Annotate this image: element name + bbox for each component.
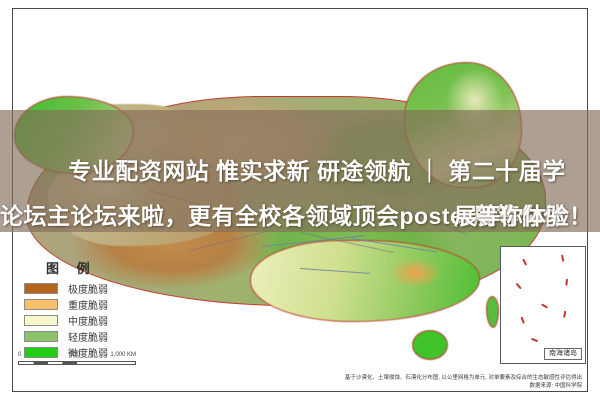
inset-label: 南海诸岛 xyxy=(544,348,582,360)
south-china-region-patch xyxy=(250,240,480,322)
legend-label-severe: 重度脆弱 xyxy=(68,297,108,312)
dashed-boundary-mark xyxy=(520,316,525,323)
dashed-boundary-mark xyxy=(561,255,565,262)
scalebar-label-start: 0 xyxy=(18,352,21,358)
dashed-boundary-mark xyxy=(515,283,521,290)
dashed-boundary-mark xyxy=(531,338,538,343)
legend-item-extreme: 极度脆弱 xyxy=(24,281,174,295)
scalebar-bar xyxy=(18,361,136,365)
legend-title: 图 例 xyxy=(46,258,174,277)
promo-headline-line-2-tail: 展等你体验！ xyxy=(410,197,600,231)
scalebar-tick-labels: 0 500 1,000 KM xyxy=(18,352,136,361)
attribution-line-method: 基于沙漠化、土壤侵蚀、石漠化分布图, 以公里网格为单元, 对单要素及综合的生态敏… xyxy=(345,374,582,382)
legend-item-moderate: 中度脆弱 xyxy=(24,313,174,327)
map-scalebar: 0 500 1,000 KM xyxy=(18,352,136,365)
dashed-boundary-mark xyxy=(563,311,567,318)
taiwan-island-shape xyxy=(486,296,499,328)
scalebar-label-end: 1,000 KM xyxy=(110,352,136,358)
legend-swatch-moderate xyxy=(24,315,58,326)
legend-item-severe: 重度脆弱 xyxy=(24,297,174,311)
legend-swatch-extreme xyxy=(24,283,58,294)
promo-headline-line-1: 专业配资网站 惟实求新 研途领航 ｜ 第二十届学 xyxy=(0,152,600,186)
map-attribution: 基于沙漠化、土壤侵蚀、石漠化分布图, 以公里网格为单元, 对单要素及综合的生态敏… xyxy=(345,374,582,391)
legend-item-mild: 轻度脆弱 xyxy=(24,329,174,343)
legend-label-extreme: 极度脆弱 xyxy=(68,281,108,296)
dashed-boundary-mark xyxy=(541,303,548,309)
south-china-sea-inset: 南海诸岛 xyxy=(500,246,586,364)
dashed-boundary-mark xyxy=(522,259,527,266)
legend-swatch-severe xyxy=(24,299,58,310)
legend-label-moderate: 中度脆弱 xyxy=(68,313,108,328)
legend-swatch-mild xyxy=(24,331,58,342)
map-legend: 图 例 极度脆弱 重度脆弱 中度脆弱 轻度脆弱 微度脆弱 xyxy=(24,258,174,361)
legend-label-mild: 轻度脆弱 xyxy=(68,329,108,344)
attribution-line-source: 数据来源: 中国科学院 xyxy=(345,382,582,390)
dashed-boundary-mark xyxy=(565,279,568,286)
scalebar-label-middle: 500 xyxy=(70,352,80,358)
screenshot-root: 南海诸岛 图 例 极度脆弱 重度脆弱 中度脆弱 轻度脆弱 xyxy=(0,0,600,400)
hainan-island-shape xyxy=(412,330,448,360)
